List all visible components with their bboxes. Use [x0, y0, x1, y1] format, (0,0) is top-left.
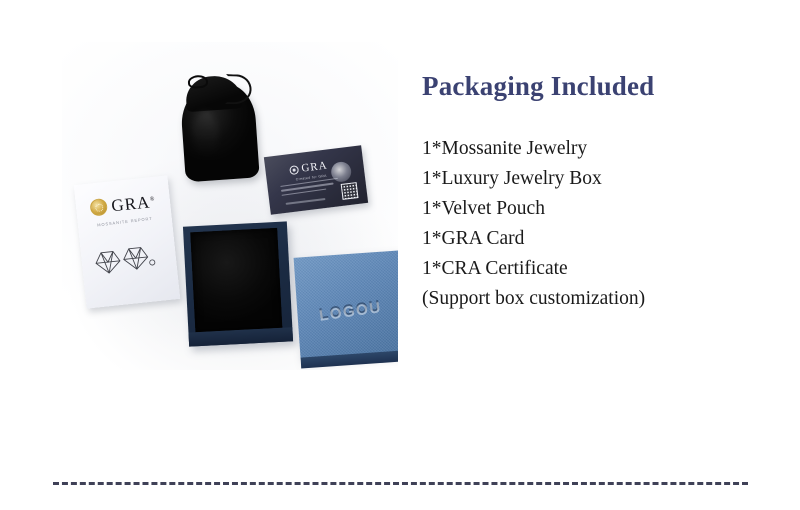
list-item: 1*GRA Card	[422, 224, 762, 254]
packaging-text-panel: Packaging Included 1*Mossanite Jewelry 1…	[422, 70, 762, 314]
gra-certificate: GRA® MOSSANITE REPORT	[74, 175, 180, 308]
card-fine-print	[280, 178, 339, 199]
dashed-divider	[53, 482, 748, 485]
card-brand: GRA	[301, 161, 328, 175]
packaging-photo: GRA® MOSSANITE REPORT GRA Created for	[62, 42, 398, 370]
box-velvet-insert	[190, 228, 282, 332]
packaging-items-list: 1*Mossanite Jewelry 1*Luxury Jewelry Box…	[422, 134, 762, 314]
gold-seal-icon	[90, 198, 109, 217]
certificate-header: GRA®	[75, 191, 170, 218]
certificate-content: GRA® MOSSANITE REPORT	[74, 175, 180, 308]
page-title: Packaging Included	[422, 70, 762, 102]
box-lid: LOGOU	[294, 250, 398, 359]
gra-logo-icon	[289, 165, 299, 175]
card-serial-line	[286, 198, 326, 204]
list-item: 1*CRA Certificate	[422, 254, 762, 284]
list-item: 1*Luxury Jewelry Box	[422, 164, 762, 194]
gra-card: GRA Created for GRA	[264, 145, 368, 215]
packaging-included-banner: GRA® MOSSANITE REPORT GRA Created for	[0, 0, 800, 510]
list-item: 1*Velvet Pouch	[422, 194, 762, 224]
jewelry-box	[183, 221, 293, 346]
velvet-pouch	[174, 67, 261, 182]
registered-mark: ®	[150, 196, 156, 203]
qr-code-icon	[341, 182, 359, 200]
certificate-brand: GRA®	[111, 193, 157, 215]
list-item: (Support box customization)	[422, 284, 762, 314]
list-item: 1*Mossanite Jewelry	[422, 134, 762, 164]
